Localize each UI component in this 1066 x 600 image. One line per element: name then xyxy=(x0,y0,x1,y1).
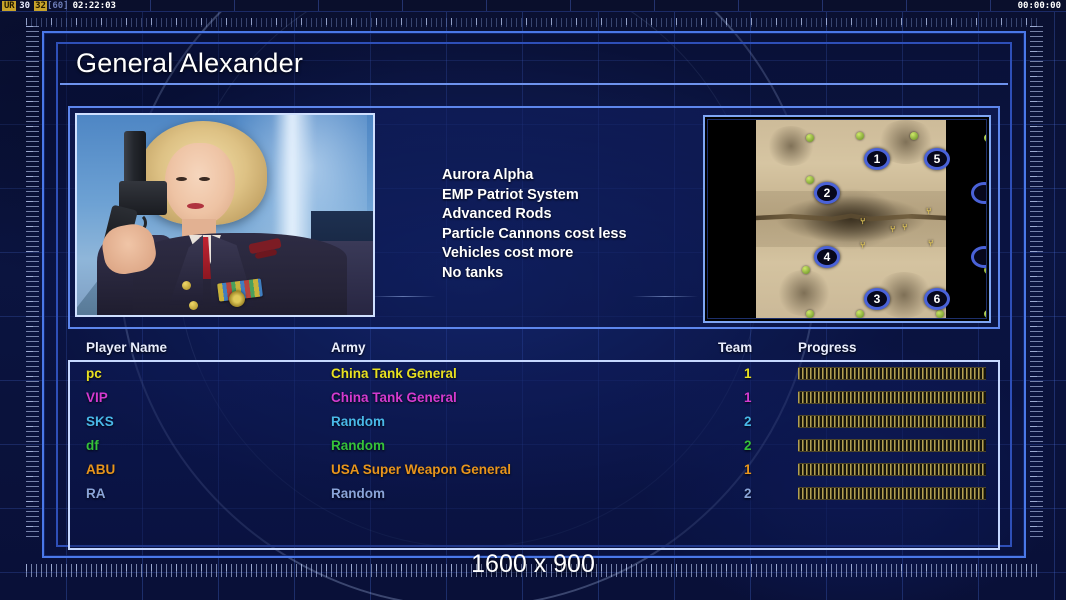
map-terrain-splotch xyxy=(776,270,832,316)
resolution-label: 1600 x 900 xyxy=(0,550,1066,579)
progress-bar xyxy=(798,439,986,452)
map-start-position-4[interactable]: 4 xyxy=(814,246,840,268)
player-army: Random xyxy=(331,434,385,458)
player-team: 1 xyxy=(744,386,752,410)
ability-item: Vehicles cost more xyxy=(442,244,627,264)
ability-item: No tanks xyxy=(442,264,627,284)
info-decor-line-1 xyxy=(370,296,436,297)
map-preview[interactable]: ⑂⑂⑂⑂⑂⑂152436 xyxy=(703,115,991,323)
info-decor-line-2 xyxy=(632,296,698,297)
general-portrait xyxy=(75,113,375,317)
portrait-lips xyxy=(187,203,204,209)
player-rows: pcChina Tank General1VIPChina Tank Gener… xyxy=(70,362,998,506)
title-band: General Alexander xyxy=(60,44,1008,85)
status-clock: 02:22:03 xyxy=(73,1,116,11)
map-start-position-slot-6[interactable] xyxy=(971,246,987,268)
portrait-eye-right xyxy=(199,177,210,181)
player-army: Random xyxy=(331,482,385,506)
general-ability-list: Aurora Alpha EMP Patriot System Advanced… xyxy=(442,166,627,283)
map-start-position-slot-4[interactable] xyxy=(971,182,987,204)
map-tech-structure-icon: ⑂ xyxy=(860,216,864,226)
map-tech-structure-icon: ⑂ xyxy=(890,224,894,234)
table-row[interactable]: VIPChina Tank General1 xyxy=(70,386,998,410)
status-value-1: 30 xyxy=(19,1,30,11)
status-bar-cells xyxy=(0,0,1066,11)
ability-item: Particle Cannons cost less xyxy=(442,225,627,245)
player-team: 2 xyxy=(744,434,752,458)
map-supply-dock-icon xyxy=(936,310,944,318)
map-supply-dock-icon xyxy=(806,310,814,318)
map-start-position-2[interactable]: 2 xyxy=(814,182,840,204)
page-title: General Alexander xyxy=(60,48,303,79)
ruler-right xyxy=(1030,26,1043,540)
map-start-position-1[interactable]: 1 xyxy=(864,148,890,170)
map-start-position-6[interactable]: 6 xyxy=(924,288,950,310)
player-list-headers: Player Name Army Team Progress xyxy=(68,340,1000,360)
player-army: USA Super Weapon General xyxy=(331,458,511,482)
player-name: RA xyxy=(86,482,106,506)
ruler-top xyxy=(26,18,1040,27)
table-row[interactable]: pcChina Tank General1 xyxy=(70,362,998,386)
map-terrain-splotch xyxy=(766,126,816,166)
table-row[interactable]: SKSRandom2 xyxy=(70,410,998,434)
progress-bar xyxy=(798,487,986,500)
player-team: 1 xyxy=(744,362,752,386)
player-army: China Tank General xyxy=(331,386,457,410)
portrait-face xyxy=(165,143,235,225)
map-tech-structure-icon: ⑂ xyxy=(860,240,864,250)
ability-item: Aurora Alpha xyxy=(442,166,627,186)
status-tag: UR xyxy=(2,1,16,11)
map-supply-dock-icon xyxy=(986,174,987,182)
progress-bar xyxy=(798,391,986,404)
column-header-team: Team xyxy=(718,340,752,355)
status-value-2: 32 xyxy=(34,1,47,11)
player-army: China Tank General xyxy=(331,362,457,386)
map-start-position-3[interactable]: 3 xyxy=(864,288,890,310)
player-name: SKS xyxy=(86,410,114,434)
player-name: VIP xyxy=(86,386,108,410)
column-header-army: Army xyxy=(331,340,366,355)
player-name: df xyxy=(86,434,99,458)
portrait-eye-left xyxy=(176,177,187,181)
top-status-bar: UR3032[60]02:22:03 00:00:00 xyxy=(0,0,1066,12)
map-supply-dock-icon xyxy=(984,134,987,142)
player-name: pc xyxy=(86,362,102,386)
map-tech-structure-icon: ⑂ xyxy=(902,222,906,232)
ability-item: Advanced Rods xyxy=(442,205,627,225)
map-supply-dock-icon xyxy=(806,134,814,142)
status-value-3: [60] xyxy=(47,1,69,11)
portrait-uniform-button-2 xyxy=(182,281,191,290)
player-team: 2 xyxy=(744,482,752,506)
column-header-player-name: Player Name xyxy=(86,340,167,355)
player-army: Random xyxy=(331,410,385,434)
map-start-position-5[interactable]: 5 xyxy=(924,148,950,170)
map-tech-structure-icon: ⑂ xyxy=(926,206,930,216)
map-supply-dock-icon xyxy=(856,132,864,140)
player-team: 1 xyxy=(744,458,752,482)
map-supply-dock-icon xyxy=(910,132,918,140)
ability-item: EMP Patriot System xyxy=(442,186,627,206)
map-supply-dock-icon xyxy=(806,176,814,184)
map-supply-dock-icon xyxy=(984,310,987,318)
map-preview-inner: ⑂⑂⑂⑂⑂⑂152436 xyxy=(707,119,987,319)
map-terrain xyxy=(756,120,946,318)
map-supply-dock-icon xyxy=(802,266,810,274)
ruler-left xyxy=(26,26,39,540)
map-tech-structure-icon: ⑂ xyxy=(928,238,932,248)
progress-bar xyxy=(798,415,986,428)
map-supply-dock-icon xyxy=(856,310,864,318)
player-team: 2 xyxy=(744,410,752,434)
progress-bar xyxy=(798,367,986,380)
table-row[interactable]: dfRandom2 xyxy=(70,434,998,458)
table-row[interactable]: RARandom2 xyxy=(70,482,998,506)
player-name: ABU xyxy=(86,458,115,482)
status-bar-right-clock: 00:00:00 xyxy=(1018,0,1061,12)
column-header-progress: Progress xyxy=(798,340,857,355)
progress-bar xyxy=(798,463,986,476)
status-bar-left: UR3032[60]02:22:03 xyxy=(2,0,116,12)
portrait-uniform-button-1 xyxy=(189,301,198,310)
table-row[interactable]: ABUUSA Super Weapon General1 xyxy=(70,458,998,482)
